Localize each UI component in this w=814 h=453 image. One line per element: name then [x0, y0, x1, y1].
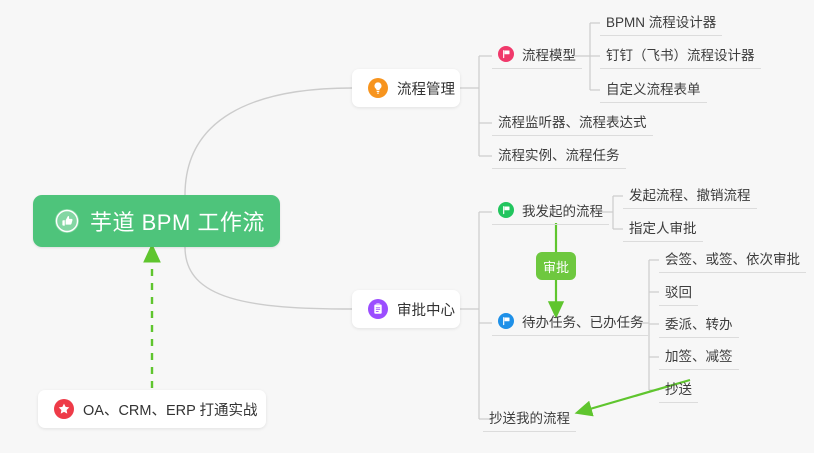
- leaf-node-add-remove-sign[interactable]: 加签、减签: [659, 344, 739, 370]
- wire-root-to-approval-center: [185, 247, 352, 309]
- leaf-label-cc: 抄送: [665, 378, 692, 398]
- branch-label-process-management: 流程管理: [397, 78, 455, 99]
- leaf-node-process-model[interactable]: 流程模型: [492, 43, 582, 69]
- leaf-label-cc-my-process: 抄送我的流程: [489, 407, 570, 427]
- leaf-label-start-cancel-process: 发起流程、撤销流程: [629, 184, 751, 204]
- leaf-node-listener-expression[interactable]: 流程监听器、流程表达式: [492, 110, 653, 136]
- leaf-label-listener-expression: 流程监听器、流程表达式: [498, 111, 647, 131]
- leaf-label-reject: 驳回: [665, 281, 692, 301]
- branch-label-approval-center: 审批中心: [397, 299, 455, 320]
- lightbulb-icon: [368, 78, 388, 98]
- root-node[interactable]: 芋道 BPM 工作流: [33, 195, 280, 247]
- leaf-node-countersign[interactable]: 会签、或签、依次审批: [659, 247, 806, 273]
- leaf-node-cc-my-process[interactable]: 抄送我的流程: [483, 406, 576, 432]
- leaf-label-dingtalk-feishu-designer: 钉钉（飞书）流程设计器: [606, 44, 755, 64]
- wire-root-to-process-management: [185, 88, 352, 195]
- leaf-node-my-started-process[interactable]: 我发起的流程: [492, 199, 609, 225]
- branch-node-process-management[interactable]: 流程管理: [352, 69, 460, 107]
- leaf-node-dingtalk-feishu-designer[interactable]: 钉钉（飞书）流程设计器: [600, 43, 761, 69]
- leaf-node-assignee-approval[interactable]: 指定人审批: [623, 216, 703, 242]
- flag-icon: [498, 313, 514, 329]
- leaf-label-bpmn-designer: BPMN 流程设计器: [606, 11, 716, 31]
- footer-note-node[interactable]: OA、CRM、ERP 打通实战: [38, 390, 266, 428]
- root-label: 芋道 BPM 工作流: [90, 205, 265, 237]
- approval-badge: 审批: [536, 252, 576, 280]
- leaf-label-countersign: 会签、或签、依次审批: [665, 248, 800, 268]
- leaf-label-process-model: 流程模型: [522, 44, 576, 64]
- leaf-node-custom-form[interactable]: 自定义流程表单: [600, 77, 707, 103]
- footer-note-label: OA、CRM、ERP 打通实战: [83, 399, 258, 420]
- leaf-label-delegate-transfer: 委派、转办: [665, 313, 733, 333]
- leaf-label-assignee-approval: 指定人审批: [629, 217, 697, 237]
- star-icon: [54, 399, 74, 419]
- flag-icon: [498, 202, 514, 218]
- leaf-node-delegate-transfer[interactable]: 委派、转办: [659, 312, 739, 338]
- leaf-label-my-started-process: 我发起的流程: [522, 200, 603, 220]
- leaf-label-instance-task: 流程实例、流程任务: [498, 144, 620, 164]
- leaf-node-instance-task[interactable]: 流程实例、流程任务: [492, 143, 626, 169]
- flag-icon: [498, 46, 514, 62]
- clipboard-icon: [368, 299, 388, 319]
- leaf-label-custom-form: 自定义流程表单: [606, 78, 701, 98]
- leaf-node-cc[interactable]: 抄送: [659, 377, 698, 403]
- approval-badge-label: 审批: [543, 257, 569, 276]
- thumbs-up-icon: [55, 209, 79, 233]
- branch-node-approval-center[interactable]: 审批中心: [352, 290, 460, 328]
- leaf-node-reject[interactable]: 驳回: [659, 280, 698, 306]
- leaf-node-todo-done-tasks[interactable]: 待办任务、已办任务: [492, 310, 650, 336]
- leaf-label-todo-done-tasks: 待办任务、已办任务: [522, 311, 644, 331]
- leaf-label-add-remove-sign: 加签、减签: [665, 345, 733, 365]
- leaf-node-bpmn-designer[interactable]: BPMN 流程设计器: [600, 10, 722, 36]
- leaf-node-start-cancel-process[interactable]: 发起流程、撤销流程: [623, 183, 757, 209]
- mindmap-canvas: 芋道 BPM 工作流 流程管理 审批中心: [0, 0, 814, 453]
